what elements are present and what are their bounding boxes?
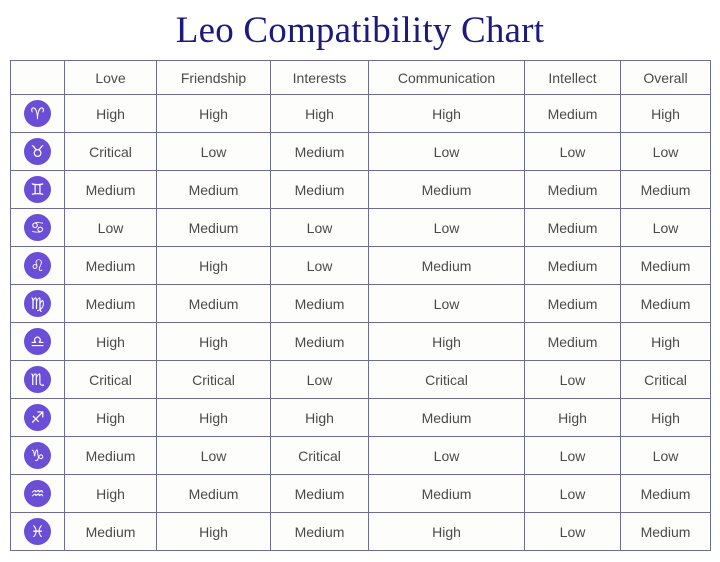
column-header-interests: Interests [271, 61, 369, 95]
cell-pisces-communication: High [369, 513, 525, 551]
cell-capricorn-interests: Critical [271, 437, 369, 475]
cell-aquarius-overall: Medium [621, 475, 711, 513]
compatibility-table: Love Friendship Interests Communication … [10, 60, 711, 551]
table-row: ♉ Critical Low Medium Low Low Low [11, 133, 711, 171]
cell-cancer-overall: Low [621, 209, 711, 247]
sign-cell-taurus: ♉ [11, 133, 65, 171]
sign-cell-aries: ♈ [11, 95, 65, 133]
sagittarius-icon: ♐ [24, 404, 51, 431]
table-header-row: Love Friendship Interests Communication … [11, 61, 711, 95]
cell-aquarius-friendship: Medium [157, 475, 271, 513]
sign-cell-leo: ♌ [11, 247, 65, 285]
cell-aries-intellect: Medium [525, 95, 621, 133]
table-row: ♈ High High High High Medium High [11, 95, 711, 133]
cell-pisces-love: Medium [65, 513, 157, 551]
cell-leo-communication: Medium [369, 247, 525, 285]
cell-leo-intellect: Medium [525, 247, 621, 285]
table-row: ♏ Critical Critical Low Critical Low Cri… [11, 361, 711, 399]
table-body: ♈ High High High High Medium High ♉ Crit… [11, 95, 711, 551]
cell-capricorn-communication: Low [369, 437, 525, 475]
cell-scorpio-intellect: Low [525, 361, 621, 399]
cell-libra-intellect: Medium [525, 323, 621, 361]
virgo-icon: ♍ [24, 290, 51, 317]
cell-cancer-friendship: Medium [157, 209, 271, 247]
cell-virgo-communication: Low [369, 285, 525, 323]
cell-taurus-friendship: Low [157, 133, 271, 171]
sign-cell-libra: ♎ [11, 323, 65, 361]
cell-leo-overall: Medium [621, 247, 711, 285]
cell-cancer-love: Low [65, 209, 157, 247]
cell-libra-love: High [65, 323, 157, 361]
table-row: ♎ High High Medium High Medium High [11, 323, 711, 361]
sign-cell-capricorn: ♑ [11, 437, 65, 475]
cell-cancer-interests: Low [271, 209, 369, 247]
leo-icon: ♌ [24, 252, 51, 279]
cell-scorpio-overall: Critical [621, 361, 711, 399]
cell-gemini-interests: Medium [271, 171, 369, 209]
cell-cancer-communication: Low [369, 209, 525, 247]
column-header-friendship: Friendship [157, 61, 271, 95]
cell-leo-friendship: High [157, 247, 271, 285]
cell-scorpio-communication: Critical [369, 361, 525, 399]
sign-cell-gemini: ♊ [11, 171, 65, 209]
cell-leo-interests: Low [271, 247, 369, 285]
cell-virgo-love: Medium [65, 285, 157, 323]
column-header-communication: Communication [369, 61, 525, 95]
cell-scorpio-interests: Low [271, 361, 369, 399]
cell-libra-overall: High [621, 323, 711, 361]
cell-pisces-friendship: High [157, 513, 271, 551]
cell-sagittarius-intellect: High [525, 399, 621, 437]
aquarius-icon: ♒ [24, 480, 51, 507]
sign-cell-aquarius: ♒ [11, 475, 65, 513]
sign-cell-pisces: ♓ [11, 513, 65, 551]
cell-aquarius-intellect: Low [525, 475, 621, 513]
table-row: ♊ Medium Medium Medium Medium Medium Med… [11, 171, 711, 209]
cell-pisces-interests: Medium [271, 513, 369, 551]
sign-cell-virgo: ♍ [11, 285, 65, 323]
cell-aquarius-communication: Medium [369, 475, 525, 513]
sign-cell-cancer: ♋ [11, 209, 65, 247]
sign-cell-sagittarius: ♐ [11, 399, 65, 437]
cell-virgo-interests: Medium [271, 285, 369, 323]
cell-leo-love: Medium [65, 247, 157, 285]
cell-taurus-intellect: Low [525, 133, 621, 171]
sign-cell-scorpio: ♏ [11, 361, 65, 399]
column-header-intellect: Intellect [525, 61, 621, 95]
cell-taurus-love: Critical [65, 133, 157, 171]
column-header-love: Love [65, 61, 157, 95]
cell-sagittarius-overall: High [621, 399, 711, 437]
taurus-icon: ♉ [24, 138, 51, 165]
cell-aquarius-interests: Medium [271, 475, 369, 513]
cell-gemini-communication: Medium [369, 171, 525, 209]
compatibility-chart-page: Leo Compatibility Chart Love Friendship … [0, 0, 720, 562]
cell-pisces-overall: Medium [621, 513, 711, 551]
cell-virgo-overall: Medium [621, 285, 711, 323]
scorpio-icon: ♏ [24, 366, 51, 393]
table-container: Love Friendship Interests Communication … [10, 60, 710, 551]
page-title: Leo Compatibility Chart [0, 0, 720, 60]
cell-gemini-overall: Medium [621, 171, 711, 209]
cell-libra-friendship: High [157, 323, 271, 361]
cell-virgo-friendship: Medium [157, 285, 271, 323]
cancer-icon: ♋ [24, 214, 51, 241]
cell-capricorn-intellect: Low [525, 437, 621, 475]
cell-pisces-intellect: Low [525, 513, 621, 551]
cell-cancer-intellect: Medium [525, 209, 621, 247]
cell-aries-interests: High [271, 95, 369, 133]
table-row: ♌ Medium High Low Medium Medium Medium [11, 247, 711, 285]
cell-aries-friendship: High [157, 95, 271, 133]
cell-capricorn-love: Medium [65, 437, 157, 475]
table-row: ♒ High Medium Medium Medium Low Medium [11, 475, 711, 513]
table-row: ♓ Medium High Medium High Low Medium [11, 513, 711, 551]
cell-taurus-communication: Low [369, 133, 525, 171]
column-header-overall: Overall [621, 61, 711, 95]
pisces-icon: ♓ [24, 518, 51, 545]
cell-sagittarius-interests: High [271, 399, 369, 437]
cell-libra-communication: High [369, 323, 525, 361]
libra-icon: ♎ [24, 328, 51, 355]
cell-aquarius-love: High [65, 475, 157, 513]
table-header: Love Friendship Interests Communication … [11, 61, 711, 95]
cell-gemini-love: Medium [65, 171, 157, 209]
table-row: ♐ High High High Medium High High [11, 399, 711, 437]
cell-taurus-overall: Low [621, 133, 711, 171]
column-header-sign [11, 61, 65, 95]
cell-gemini-intellect: Medium [525, 171, 621, 209]
table-row: ♍ Medium Medium Medium Low Medium Medium [11, 285, 711, 323]
cell-gemini-friendship: Medium [157, 171, 271, 209]
cell-aries-communication: High [369, 95, 525, 133]
cell-sagittarius-friendship: High [157, 399, 271, 437]
gemini-icon: ♊ [24, 176, 51, 203]
cell-capricorn-overall: Low [621, 437, 711, 475]
cell-aries-love: High [65, 95, 157, 133]
cell-sagittarius-love: High [65, 399, 157, 437]
cell-capricorn-friendship: Low [157, 437, 271, 475]
cell-aries-overall: High [621, 95, 711, 133]
cell-sagittarius-communication: Medium [369, 399, 525, 437]
cell-scorpio-friendship: Critical [157, 361, 271, 399]
capricorn-icon: ♑ [24, 442, 51, 469]
table-row: ♑ Medium Low Critical Low Low Low [11, 437, 711, 475]
cell-taurus-interests: Medium [271, 133, 369, 171]
table-row: ♋ Low Medium Low Low Medium Low [11, 209, 711, 247]
cell-virgo-intellect: Medium [525, 285, 621, 323]
cell-libra-interests: Medium [271, 323, 369, 361]
aries-icon: ♈ [24, 100, 51, 127]
cell-scorpio-love: Critical [65, 361, 157, 399]
